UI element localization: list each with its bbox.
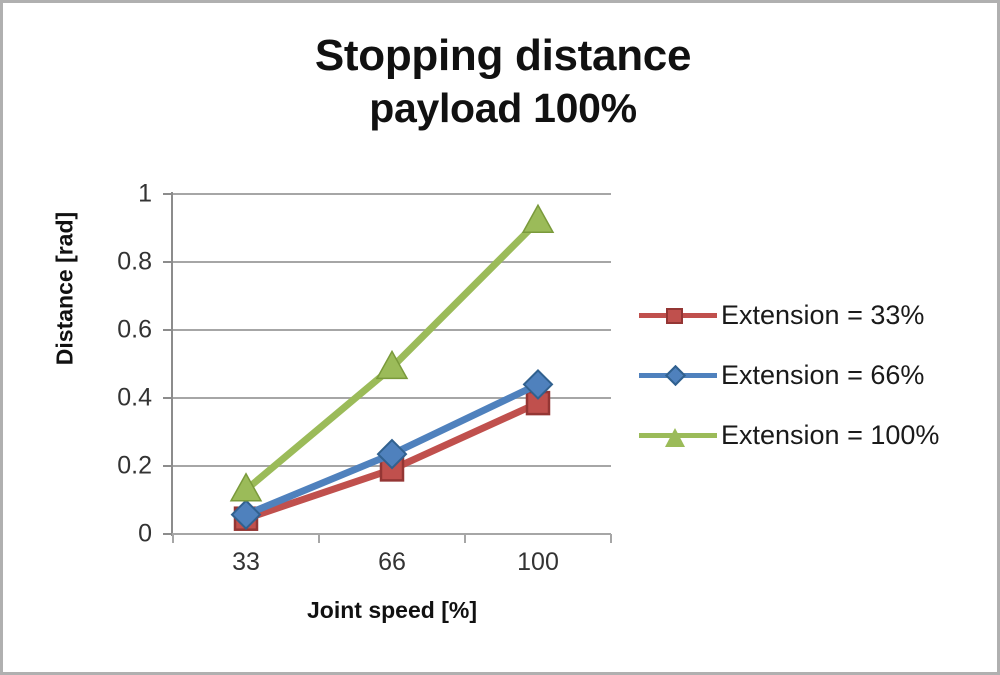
y-axis-tick-label: 0.4 (92, 384, 152, 413)
y-axis-tick (163, 465, 172, 467)
y-axis-tick-label: 0.6 (92, 316, 152, 345)
legend-label: Extension = 33% (717, 300, 924, 331)
y-axis-title: Distance [rad] (52, 189, 79, 389)
x-axis-title: Joint speed [%] (173, 597, 611, 624)
legend-marker-square-icon (666, 308, 683, 324)
y-axis-tick (163, 261, 172, 263)
legend-swatch-diamond-icon (639, 360, 717, 390)
data-point-marker (523, 205, 553, 232)
y-axis-tick (163, 397, 172, 399)
chart-legend: Extension = 33%Extension = 66%Extension … (639, 285, 989, 465)
chart-title: Stopping distance payload 100% (123, 29, 883, 133)
y-axis-tick (163, 329, 172, 331)
legend-swatch-triangle-icon (639, 420, 717, 450)
chart-title-line-2: payload 100% (123, 83, 883, 133)
x-axis-tick (464, 534, 466, 543)
legend-swatch-square-icon (639, 300, 717, 330)
x-axis-tick (610, 534, 612, 543)
legend-label: Extension = 100% (717, 420, 939, 451)
y-axis-tick (163, 193, 172, 195)
legend-item: Extension = 33% (639, 285, 989, 345)
x-axis-tick (172, 534, 174, 543)
chart-title-line-1: Stopping distance (315, 31, 691, 80)
legend-item: Extension = 66% (639, 345, 989, 405)
y-axis-tick-label: 1 (92, 180, 152, 209)
legend-marker-triangle-icon (665, 428, 685, 447)
series-layer (173, 194, 611, 534)
x-axis-tick-label: 66 (347, 548, 437, 577)
y-axis-tick-label: 0.8 (92, 248, 152, 277)
plot-area (173, 194, 611, 534)
legend-label: Extension = 66% (717, 360, 924, 391)
chart-screenshot: Stopping distance payload 100% Distance … (0, 0, 1000, 675)
x-axis-tick-label: 33 (201, 548, 291, 577)
x-axis-tick-label: 100 (493, 548, 583, 577)
legend-marker-diamond-icon (665, 365, 686, 386)
legend-item: Extension = 100% (639, 405, 989, 465)
y-axis-tick-label: 0.2 (92, 452, 152, 481)
y-axis-tick (163, 533, 172, 535)
y-axis-tick-label: 0 (92, 520, 152, 549)
x-axis-tick (318, 534, 320, 543)
